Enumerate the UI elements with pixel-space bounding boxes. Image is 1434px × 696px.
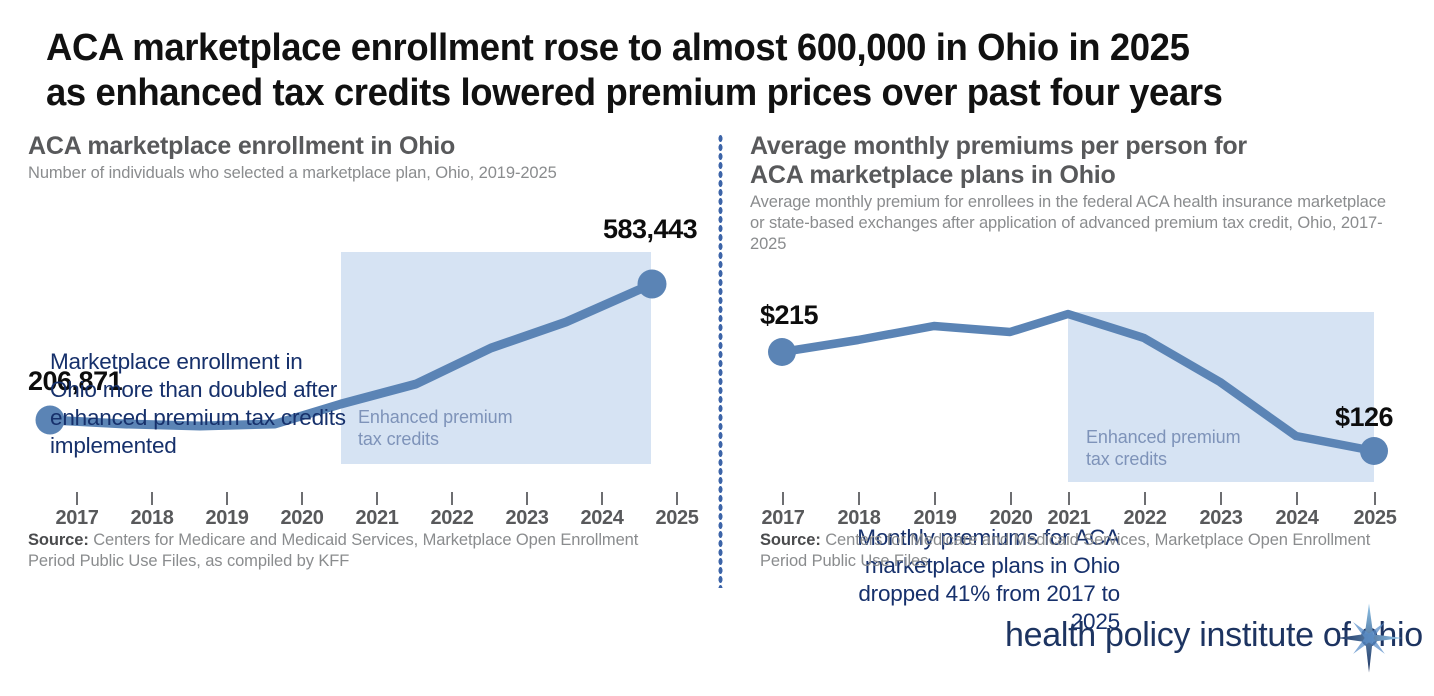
- chart-panel-enrollment: ACA marketplace enrollment in Ohio Numbe…: [28, 132, 696, 184]
- left-chart-title: ACA marketplace enrollment in Ohio: [28, 132, 696, 161]
- tick-mark-2022: [1144, 492, 1146, 505]
- left-band-label-line-1: Enhanced premium: [358, 406, 513, 428]
- left-chart-x-axis: 2017 2018 2019 2020 2021 2022 2023 2024 …: [28, 492, 696, 532]
- right-chart-svg: [750, 296, 1410, 496]
- headline-line-2: as enhanced tax credits lowered premium …: [46, 71, 1342, 116]
- tick-label-2025: 2025: [1354, 507, 1397, 530]
- tick-mark-2018: [858, 492, 860, 505]
- tick-label-2019: 2019: [206, 507, 249, 530]
- left-chart-source: Source: Centers for Medicare and Medicai…: [28, 530, 668, 572]
- left-chart-callout: Marketplace enrollment in Ohio more than…: [50, 348, 350, 460]
- tick-mark-2024: [1296, 492, 1298, 505]
- right-band-label-line-2: tax credits: [1086, 448, 1241, 470]
- tick-label-2023: 2023: [1200, 507, 1243, 530]
- tick-label-2020: 2020: [281, 507, 324, 530]
- tick-mark-2021: [1068, 492, 1070, 505]
- tick-label-2017: 2017: [762, 507, 805, 530]
- left-chart-subtitle: Number of individuals who selected a mar…: [28, 163, 696, 184]
- tick-label-2023: 2023: [506, 507, 549, 530]
- right-band-label-line-1: Enhanced premium: [1086, 426, 1241, 448]
- right-chart-subtitle: Average monthly premium for enrollees in…: [750, 192, 1390, 255]
- tick-label-2018: 2018: [838, 507, 881, 530]
- tick-mark-2024: [601, 492, 603, 505]
- tick-mark-2025: [676, 492, 678, 505]
- tick-mark-2023: [526, 492, 528, 505]
- tick-mark-2019: [226, 492, 228, 505]
- tick-mark-2019: [934, 492, 936, 505]
- right-chart-title-line-1: Average monthly premiums per person for: [750, 132, 1410, 161]
- tick-mark-2020: [301, 492, 303, 505]
- vertical-dotted-divider: [718, 134, 723, 588]
- right-chart-title-line-2: ACA marketplace plans in Ohio: [750, 161, 1410, 190]
- tick-label-2021: 2021: [356, 507, 399, 530]
- right-start-marker: [768, 338, 796, 366]
- left-end-value-label: 583,443: [603, 214, 697, 245]
- right-end-marker: [1360, 437, 1388, 465]
- tick-mark-2020: [1010, 492, 1012, 505]
- compass-star-icon: [1333, 602, 1405, 674]
- tick-label-2022: 2022: [1124, 507, 1167, 530]
- left-end-marker: [638, 270, 667, 299]
- tick-label-2021: 2021: [1048, 507, 1091, 530]
- right-source-text: Centers for Medicare and Medicaid Servic…: [760, 531, 1370, 570]
- right-chart-source: Source: Centers for Medicare and Medicai…: [760, 530, 1380, 572]
- right-start-value-label: $215: [760, 300, 818, 331]
- headline-line-1: ACA marketplace enrollment rose to almos…: [46, 26, 1342, 71]
- left-source-text: Centers for Medicare and Medicaid Servic…: [28, 531, 638, 570]
- tick-label-2024: 2024: [581, 507, 624, 530]
- tick-label-2024: 2024: [1276, 507, 1319, 530]
- hpio-logo: health policy institute of ohio: [1005, 602, 1405, 674]
- tick-mark-2022: [451, 492, 453, 505]
- chart-panel-premiums: Average monthly premiums per person for …: [750, 132, 1410, 255]
- tick-label-2022: 2022: [431, 507, 474, 530]
- right-chart-plot: $215 $126 Enhanced premium tax credits M…: [750, 296, 1410, 496]
- tick-label-2018: 2018: [131, 507, 174, 530]
- right-source-prefix: Source:: [760, 531, 821, 549]
- right-end-value-label: $126: [1335, 402, 1393, 433]
- tick-mark-2017: [76, 492, 78, 505]
- tick-mark-2025: [1374, 492, 1376, 505]
- right-band-label: Enhanced premium tax credits: [1086, 426, 1241, 470]
- tick-label-2020: 2020: [990, 507, 1033, 530]
- left-band-label-line-2: tax credits: [358, 428, 513, 450]
- tick-mark-2017: [782, 492, 784, 505]
- tick-mark-2018: [151, 492, 153, 505]
- page-title: ACA marketplace enrollment rose to almos…: [46, 26, 1396, 116]
- tick-label-2019: 2019: [914, 507, 957, 530]
- right-chart-x-axis: 2017 2018 2019 2020 2021 2022 2023 2024 …: [750, 492, 1410, 532]
- tick-label-2025: 2025: [656, 507, 699, 530]
- left-source-prefix: Source:: [28, 531, 89, 549]
- tick-label-2017: 2017: [56, 507, 99, 530]
- tick-mark-2021: [376, 492, 378, 505]
- tick-mark-2023: [1220, 492, 1222, 505]
- left-band-label: Enhanced premium tax credits: [358, 406, 513, 450]
- left-chart-plot: 206,871 583,443 Enhanced premium tax cre…: [28, 228, 696, 496]
